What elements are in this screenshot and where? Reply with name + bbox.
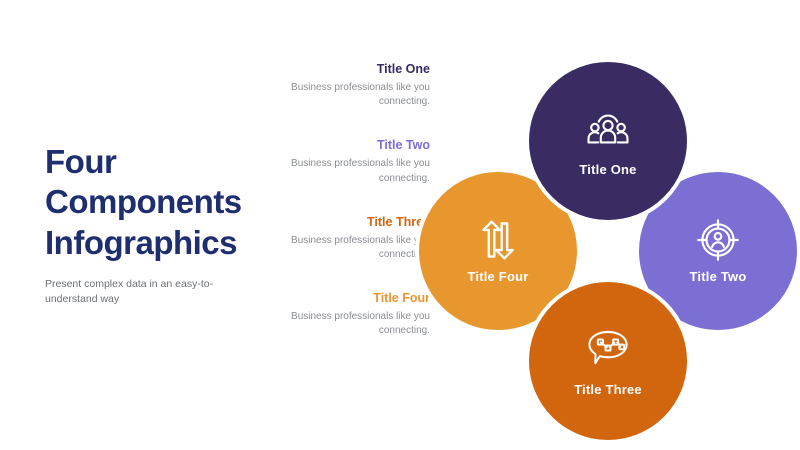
list-item-desc-four: Business professionals like you connecti…	[290, 310, 430, 338]
node-label-four: Title Four	[468, 269, 529, 284]
description-list: Title One Business professionals like yo…	[290, 62, 430, 339]
node-label-two: Title Two	[690, 269, 747, 284]
headline-block: Four Components Infographics Present com…	[45, 142, 295, 318]
list-item-desc-three: Business professionals like you connecti…	[290, 234, 430, 262]
list-item-desc-one: Business professionals like you connecti…	[290, 81, 430, 109]
node-title-one[interactable]: Title One	[525, 58, 691, 224]
target-person-icon	[696, 218, 740, 262]
people-group-icon	[586, 106, 630, 150]
headline-line-1: Four	[45, 143, 116, 180]
page-title: Four Components Infographics	[45, 142, 295, 263]
list-item-title-four: Title Four	[290, 291, 430, 306]
list-item: Title Three Business professionals like …	[290, 215, 430, 262]
list-item: Title Four Business professionals like y…	[290, 291, 430, 338]
list-item-title-one: Title One	[290, 62, 430, 77]
node-label-one: Title One	[579, 162, 636, 177]
list-item-title-three: Title Three	[290, 215, 430, 230]
list-item: Title Two Business professionals like yo…	[290, 138, 430, 185]
list-item-title-two: Title Two	[290, 138, 430, 153]
headline-line-2: Components	[45, 183, 242, 220]
list-item: Title One Business professionals like yo…	[290, 62, 430, 109]
headline-subtitle: Present complex data in an easy-to-under…	[45, 277, 230, 307]
circle-cluster-diagram: Title Four Title Two	[430, 50, 800, 420]
headline-line-3: Infographics	[45, 224, 237, 261]
infographic-slide: Four Components Infographics Present com…	[0, 0, 800, 450]
list-item-desc-two: Business professionals like you connecti…	[290, 157, 430, 185]
speech-bubble-network-icon	[586, 326, 630, 370]
node-title-three[interactable]: Title Three	[525, 278, 691, 444]
up-down-arrows-icon	[476, 218, 520, 262]
node-label-three: Title Three	[574, 382, 642, 397]
